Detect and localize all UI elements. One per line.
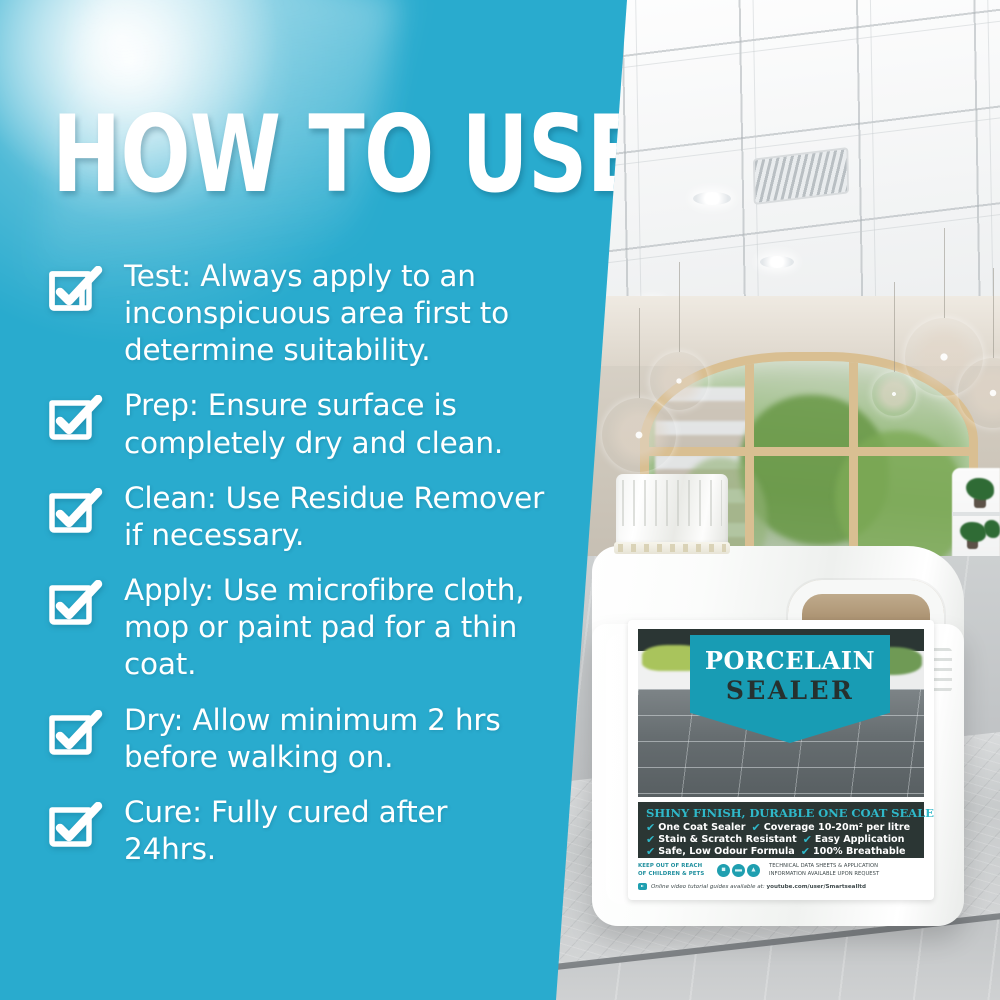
infographic-canvas: PORCELAIN SEALER SHINY FINISH, DURABLE O… — [0, 0, 1000, 1000]
feature-label: One Coat Sealer — [658, 822, 745, 833]
feature-item: ✔ One Coat Sealer — [646, 822, 746, 833]
checkbox-checked-icon — [48, 395, 104, 447]
keep-out-warning: KEEP OUT OF REACH OF CHILDREN & PETS — [638, 862, 712, 878]
feature-label: 100% Breathable — [813, 846, 906, 857]
checkbox-checked-icon — [48, 710, 104, 762]
feature-item: ✔ 100% Breathable — [801, 846, 906, 857]
list-item-label: Apply: Use microfibre cloth, mop or pain… — [124, 572, 544, 683]
safety-icons: ■ ▬ ▲ — [717, 864, 760, 877]
feature-item: ✔ Safe, Low Odour Formula — [646, 846, 795, 857]
checkbox-checked-icon — [48, 488, 104, 540]
label-fine-print: KEEP OUT OF REACH OF CHILDREN & PETS ■ ▬… — [638, 862, 924, 894]
tds-line2: INFORMATION AVAILABLE UPON REQUEST — [769, 870, 879, 878]
label-patio-photo: PORCELAIN SEALER — [638, 629, 924, 797]
checkbox-checked-icon — [48, 580, 104, 632]
keep-out-line1: KEEP OUT OF REACH — [638, 862, 712, 870]
window-mullion — [649, 447, 969, 456]
list-item-label: Dry: Allow minimum 2 hrs before walking … — [124, 702, 544, 776]
feature-label: Stain & Scratch Resistant — [658, 834, 796, 845]
list-item-label: Cure: Fully cured after 24hrs. — [124, 794, 544, 868]
feature-row: ✔ Stain & Scratch Resistant ✔ Easy Appli… — [646, 834, 918, 845]
list-item: Apply: Use microfibre cloth, mop or pain… — [48, 572, 568, 683]
list-item: Dry: Allow minimum 2 hrs before walking … — [48, 702, 568, 776]
check-icon: ✔ — [801, 846, 810, 857]
wear-gloves-icon: ▲ — [747, 864, 760, 877]
list-item: Prep: Ensure surface is completely dry a… — [48, 387, 568, 461]
feature-item: ✔ Stain & Scratch Resistant — [646, 834, 797, 845]
potted-plant — [966, 478, 994, 500]
label-features-panel: SHINY FINISH, DURABLE ONE COAT SEALER ✔ … — [638, 802, 924, 858]
list-item-label: Prep: Ensure surface is completely dry a… — [124, 387, 544, 461]
check-icon: ✔ — [803, 834, 812, 845]
pendant-light — [602, 398, 676, 472]
feature-item: ✔ Coverage 10-20m² per litre — [752, 822, 911, 833]
feature-label: Coverage 10-20m² per litre — [764, 822, 910, 833]
video-tutorial-text: Online video tutorial guides available a… — [651, 884, 866, 890]
keep-out-line2: OF CHILDREN & PETS — [638, 870, 712, 878]
product-label: PORCELAIN SEALER SHINY FINISH, DURABLE O… — [628, 620, 934, 900]
list-item: Cure: Fully cured after 24hrs. — [48, 794, 568, 868]
feature-label: Safe, Low Odour Formula — [658, 846, 795, 857]
tamper-ring — [614, 542, 730, 554]
no-drink-icon: ■ — [717, 864, 730, 877]
check-icon: ✔ — [646, 834, 655, 845]
features-heading: SHINY FINISH, DURABLE ONE COAT SEALER — [646, 806, 918, 820]
downlight-icon — [760, 256, 794, 268]
feature-row: ✔ Safe, Low Odour Formula ✔ 100% Breatha… — [646, 846, 918, 857]
technical-data-note: TECHNICAL DATA SHEETS & APPLICATION INFO… — [769, 862, 879, 878]
pendant-light — [650, 352, 708, 410]
bottle-cap — [616, 474, 728, 546]
checkbox-checked-icon — [48, 802, 104, 854]
video-tutorial-label: Online video tutorial guides available a… — [651, 884, 767, 890]
list-item: Test: Always apply to an inconspicuous a… — [48, 258, 568, 369]
teal-content-panel: HOW TO USE? Test: Always apply to an inc… — [0, 0, 660, 1000]
features-rows: ✔ One Coat Sealer ✔ Coverage 10-20m² per… — [646, 822, 918, 857]
check-icon: ✔ — [752, 822, 761, 833]
downlight-icon — [693, 192, 731, 205]
product-name-line2: SEALER — [726, 678, 854, 703]
steps-list: Test: Always apply to an inconspicuous a… — [48, 258, 568, 886]
list-item: Clean: Use Residue Remover if necessary. — [48, 480, 568, 554]
checkbox-checked-icon — [48, 266, 104, 318]
list-item-label: Clean: Use Residue Remover if necessary. — [124, 480, 544, 554]
feature-label: Easy Application — [815, 834, 905, 845]
tds-line1: TECHNICAL DATA SHEETS & APPLICATION — [769, 862, 879, 870]
video-tutorial-url: youtube.com/user/Smartsealltd — [767, 884, 866, 890]
check-icon: ✔ — [646, 822, 655, 833]
page-title: HOW TO USE? — [52, 104, 489, 206]
product-bottle: PORCELAIN SEALER SHINY FINISH, DURABLE O… — [592, 474, 964, 926]
play-button-icon — [638, 883, 647, 890]
video-tutorial-row: Online video tutorial guides available a… — [638, 883, 924, 890]
warning-row: KEEP OUT OF REACH OF CHILDREN & PETS ■ ▬… — [638, 862, 924, 878]
feature-row: ✔ One Coat Sealer ✔ Coverage 10-20m² per… — [646, 822, 918, 833]
product-name-line1: PORCELAIN — [705, 649, 875, 673]
pendant-light — [872, 372, 916, 416]
list-item-label: Test: Always apply to an inconspicuous a… — [124, 258, 544, 369]
no-inhale-icon: ▬ — [732, 864, 745, 877]
check-icon: ✔ — [646, 846, 655, 857]
potted-plant — [984, 520, 1000, 538]
feature-item: ✔ Easy Application — [803, 834, 905, 845]
